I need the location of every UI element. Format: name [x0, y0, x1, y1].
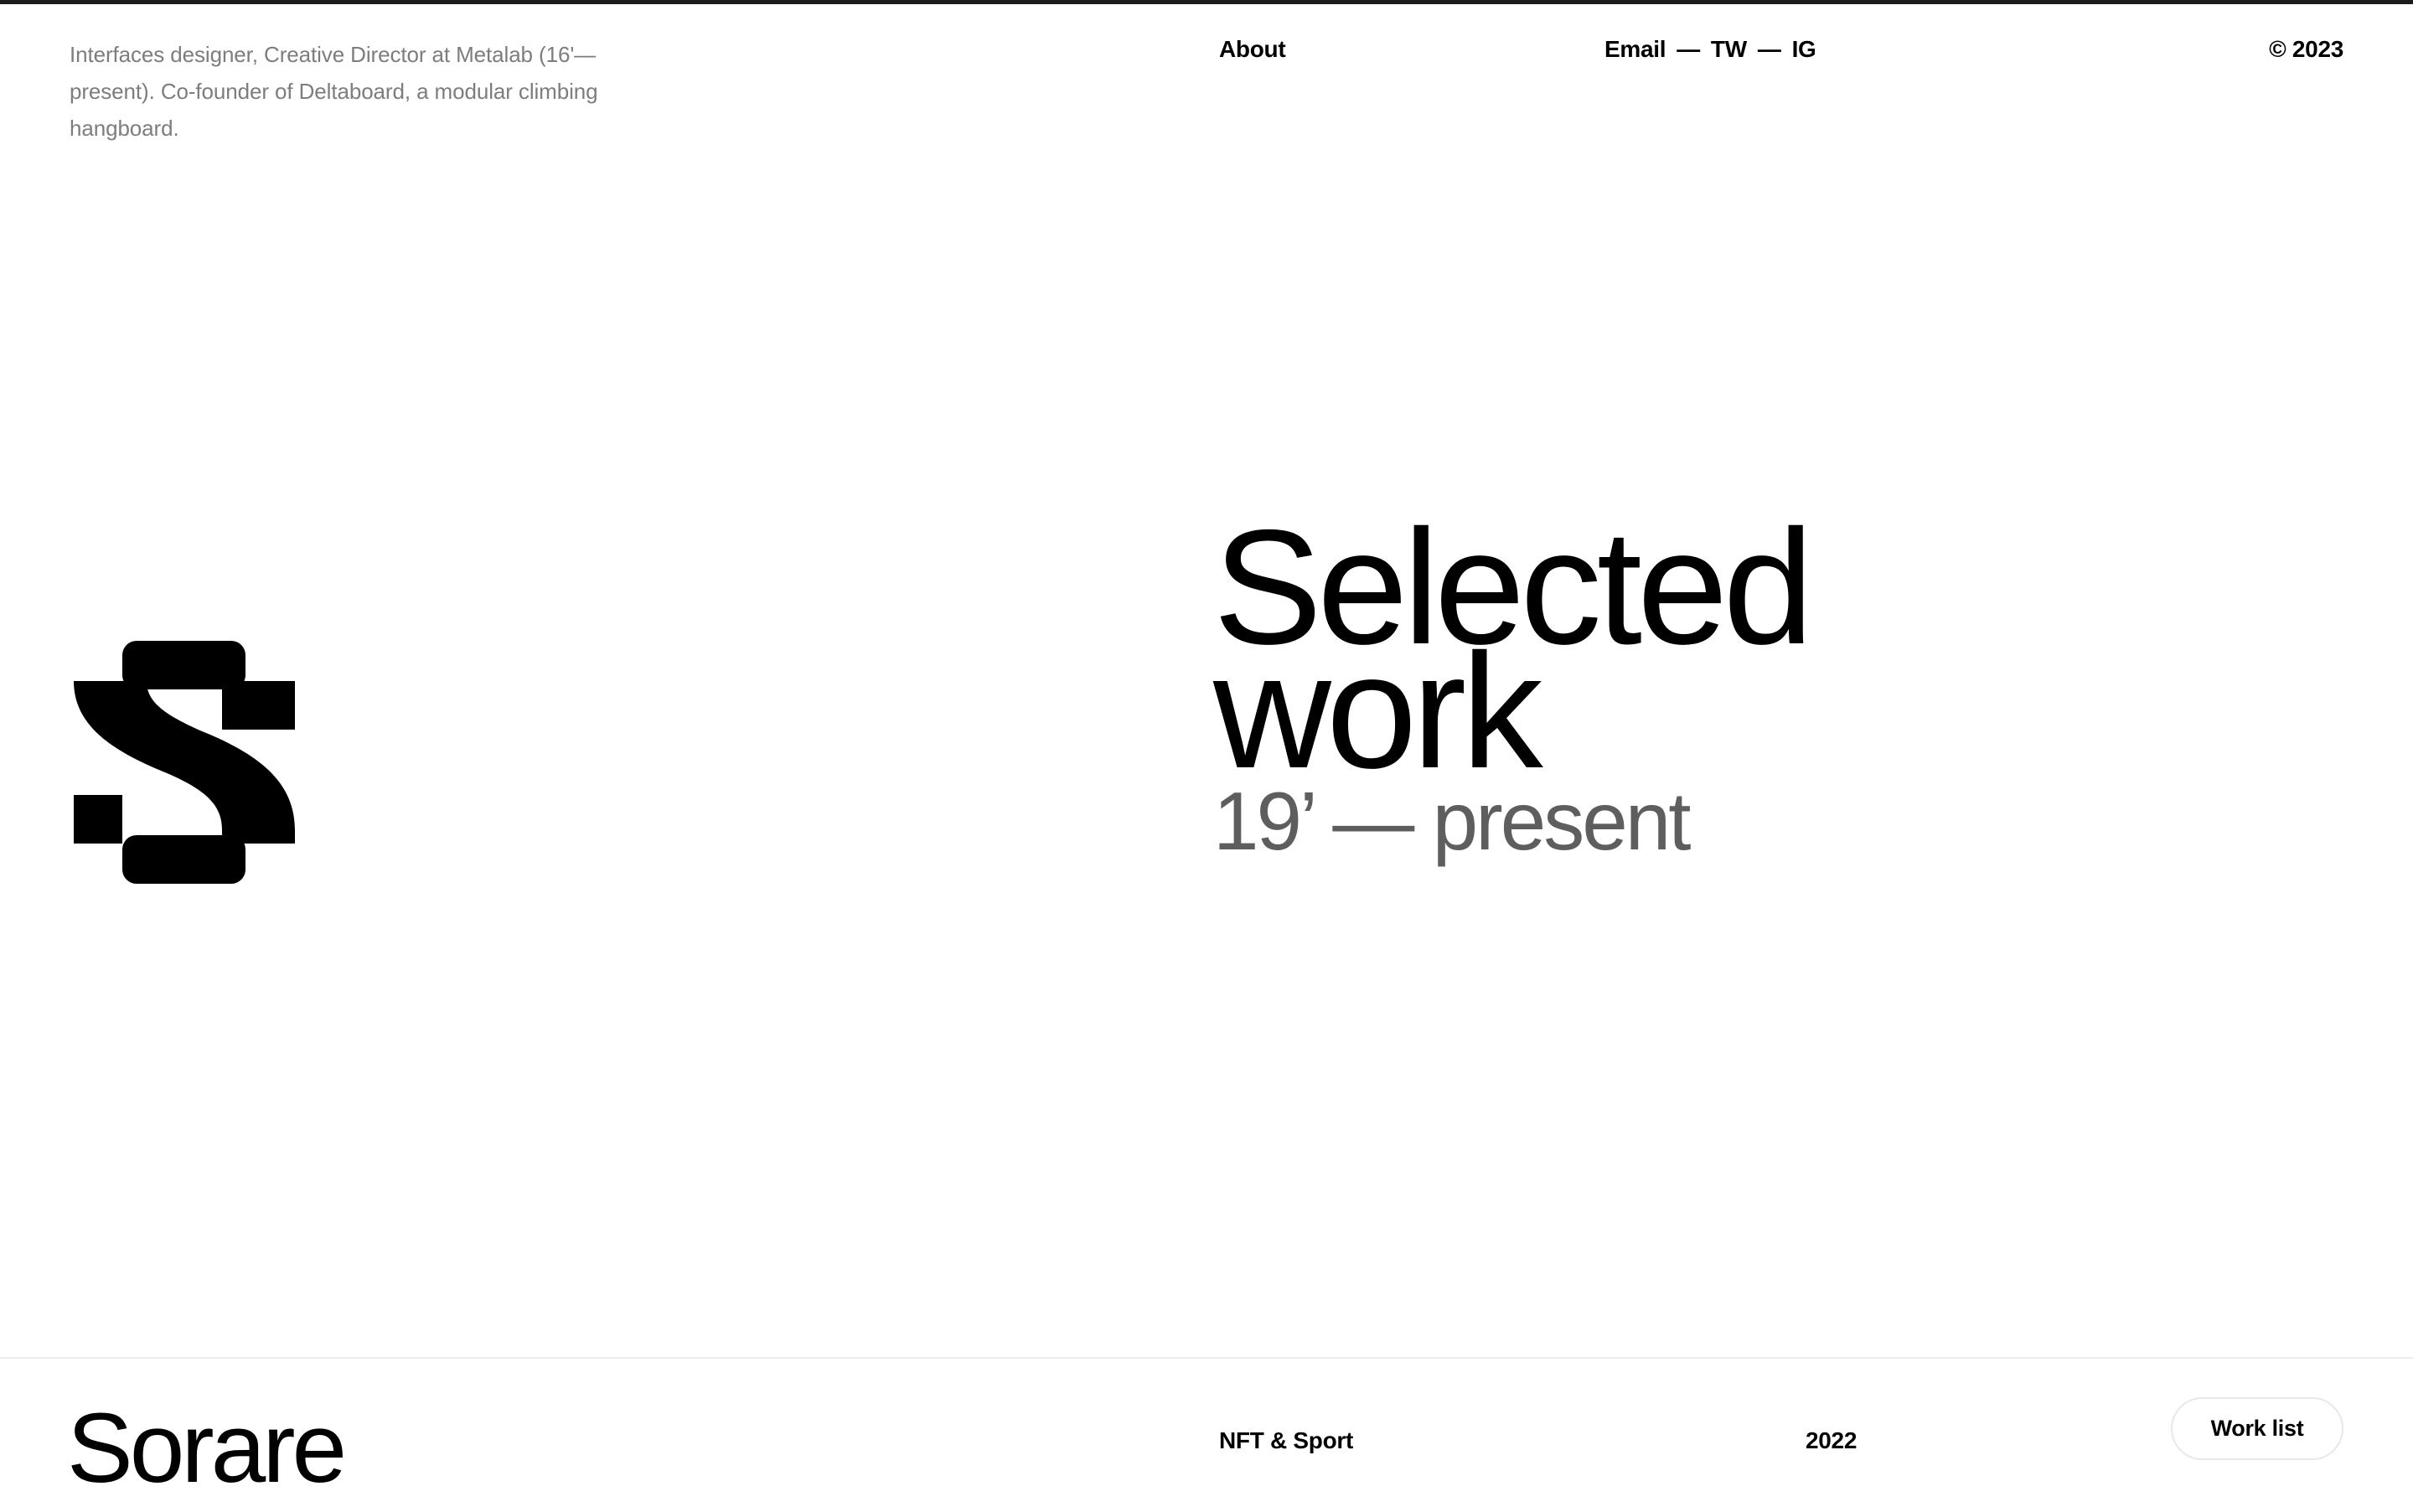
- nav-link-email[interactable]: Email: [1604, 36, 1666, 63]
- work-project-category: NFT & Sport: [1219, 1427, 1353, 1454]
- hero-subtitle: 19’ — present: [1213, 780, 1688, 862]
- hero-section: Selected work 19’ — present: [0, 151, 2413, 1357]
- site-header: Interfaces designer, Creative Director a…: [0, 4, 2413, 151]
- work-list-button[interactable]: Work list: [2171, 1397, 2343, 1460]
- copyright-notice: © 2023: [1943, 36, 2343, 63]
- work-project-year: 2022: [1806, 1427, 1857, 1454]
- nav-separator-2: —: [1747, 36, 1792, 63]
- nav-link-about[interactable]: About: [1219, 36, 1285, 63]
- work-list-item[interactable]: Sorare NFT & Sport 2022: [0, 1357, 2413, 1512]
- work-project-name: Sorare: [67, 1399, 344, 1498]
- bio-text: Interfaces designer, Creative Director a…: [70, 36, 639, 147]
- nav-link-twitter[interactable]: TW: [1711, 36, 1747, 63]
- sorare-s-logo-icon: [74, 641, 295, 884]
- nav-separator-1: —: [1666, 36, 1711, 63]
- nav-link-instagram[interactable]: IG: [1792, 36, 1816, 63]
- social-links: Email — TW — IG: [1604, 36, 1816, 63]
- hero-title: Selected work: [1213, 525, 1809, 773]
- portfolio-page: Interfaces designer, Creative Director a…: [0, 4, 2413, 1508]
